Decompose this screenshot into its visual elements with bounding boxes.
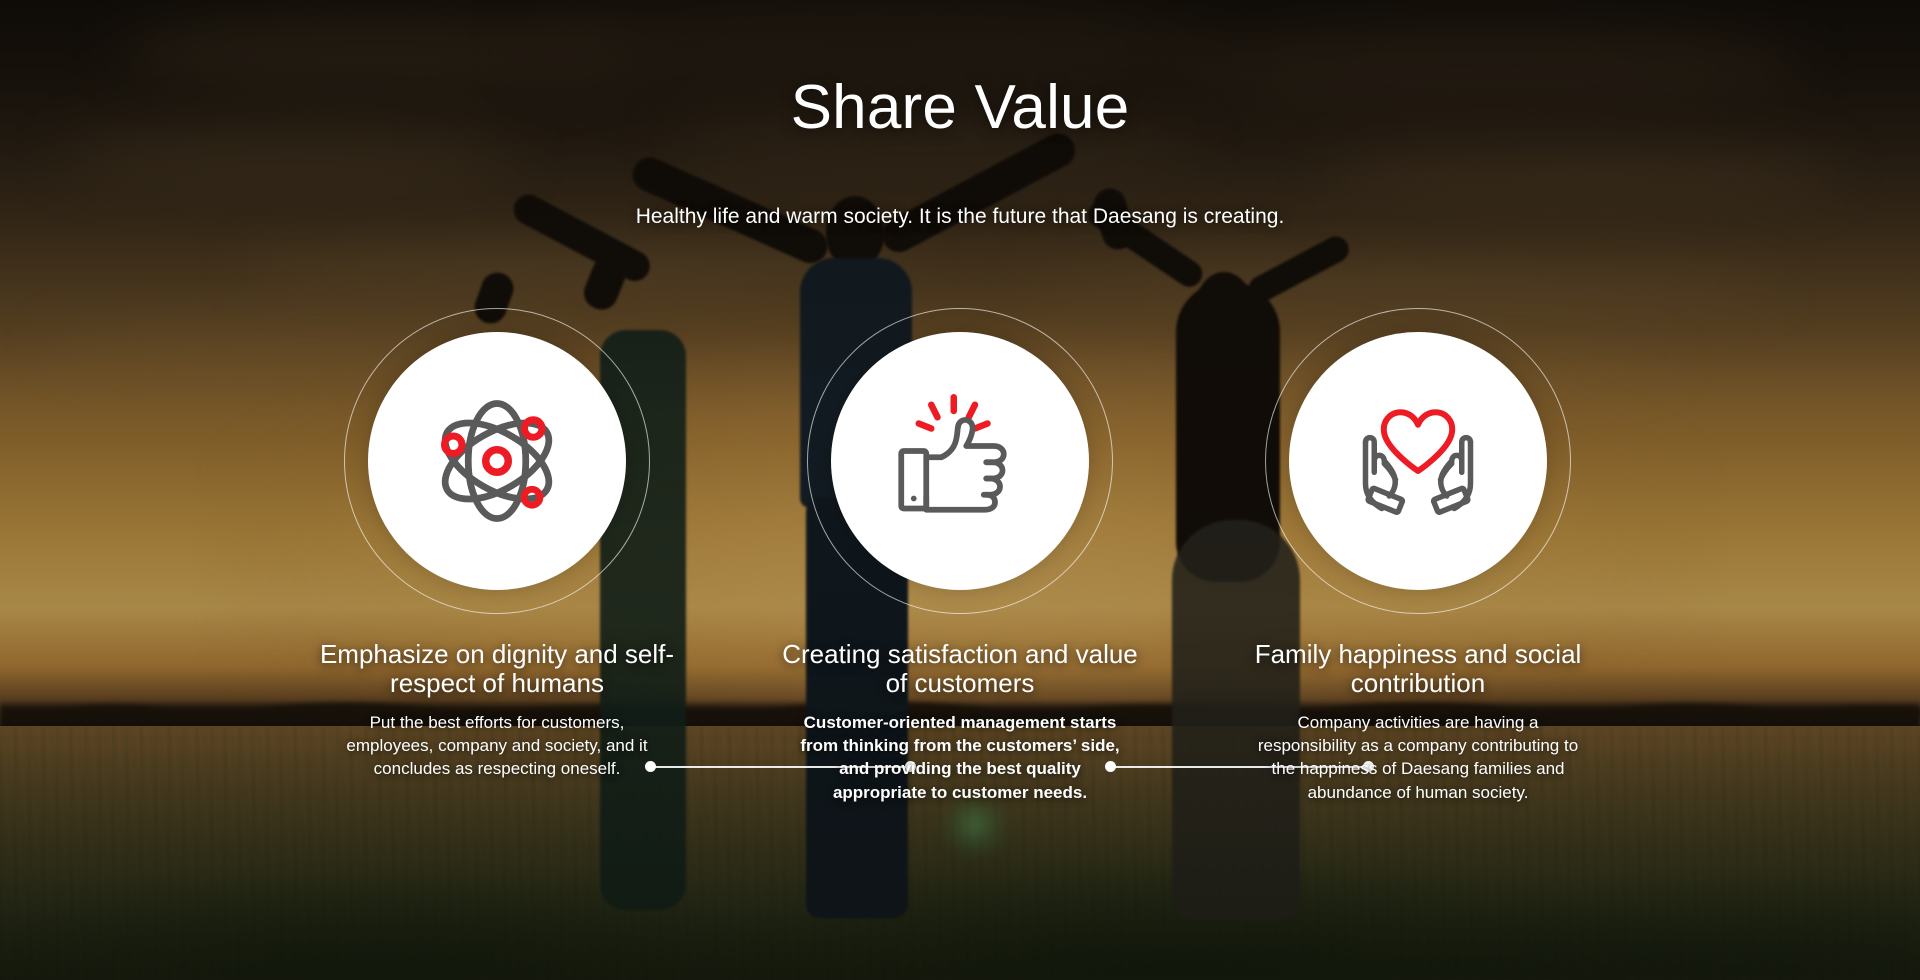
icon-disc [1289,332,1547,590]
page-title: Share Value [0,72,1920,143]
icon-disc [831,332,1089,590]
pillar-description: Company activities are having a responsi… [1208,711,1628,803]
icon-disc [368,332,626,590]
value-pillar-family-happiness[interactable]: Family happiness and social contribution… [1208,308,1628,804]
hands-holding-heart-icon [1343,386,1493,536]
atom-icon [422,386,572,536]
icon-ring-wrapper [1265,308,1571,614]
pillar-title: Creating satisfaction and value of custo… [750,640,1170,697]
pillar-description: Put the best efforts for customers, empl… [287,711,707,780]
icon-ring-wrapper [344,308,650,614]
value-pillar-dignity[interactable]: Emphasize on dignity and self-respect of… [287,308,707,781]
share-value-hero-section: Share Value Healthy life and warm societ… [0,0,1920,980]
value-pillars: Emphasize on dignity and self-respect of… [0,308,1920,868]
thumbs-up-icon [885,386,1035,536]
hero-content: Share Value Healthy life and warm societ… [0,0,1920,980]
pillar-description: Customer-oriented management starts from… [750,711,1170,803]
pillar-title: Emphasize on dignity and self-respect of… [287,640,707,697]
icon-ring-wrapper [807,308,1113,614]
page-subtitle: Healthy life and warm society. It is the… [0,205,1920,229]
pillar-title: Family happiness and social contribution [1208,640,1628,697]
value-pillar-customer-satisfaction[interactable]: Creating satisfaction and value of custo… [750,308,1170,804]
